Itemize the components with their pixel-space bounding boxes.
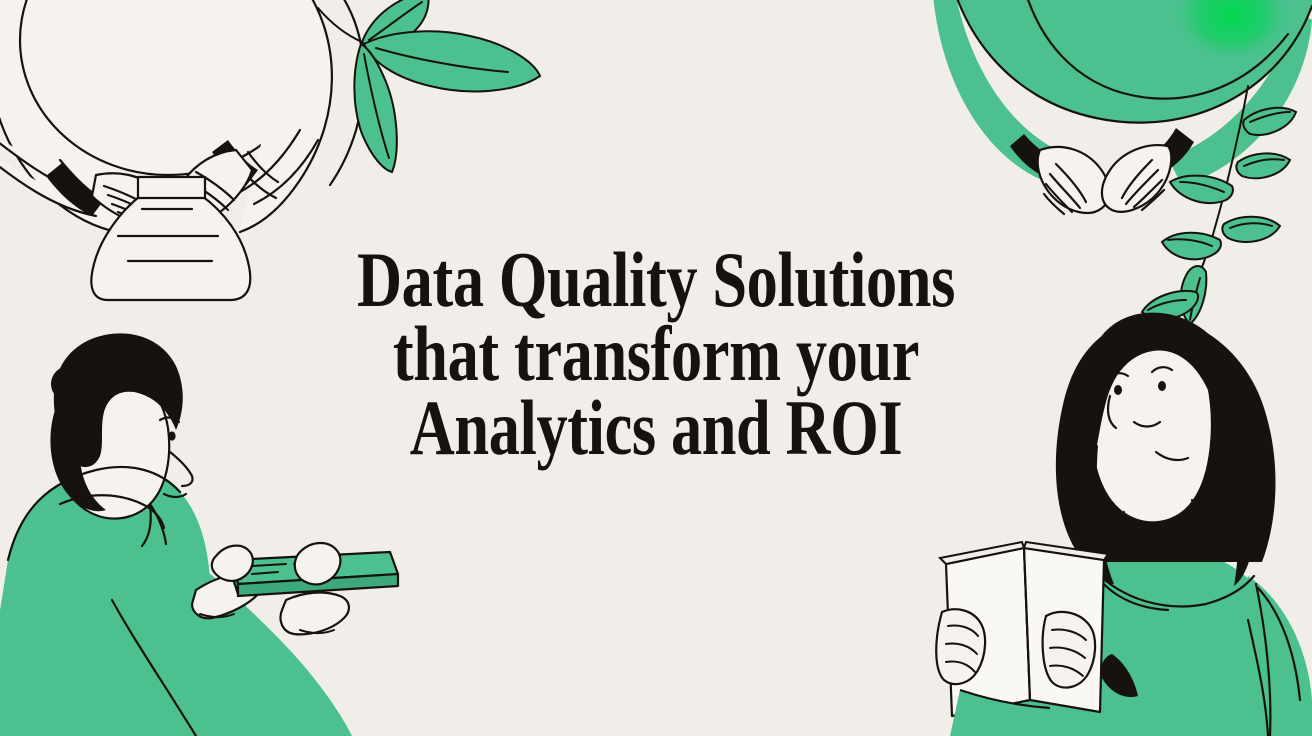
slide-canvas: Data Quality Solutions that transform yo… (0, 0, 1312, 736)
decorative-illustration-layer (0, 0, 1312, 736)
